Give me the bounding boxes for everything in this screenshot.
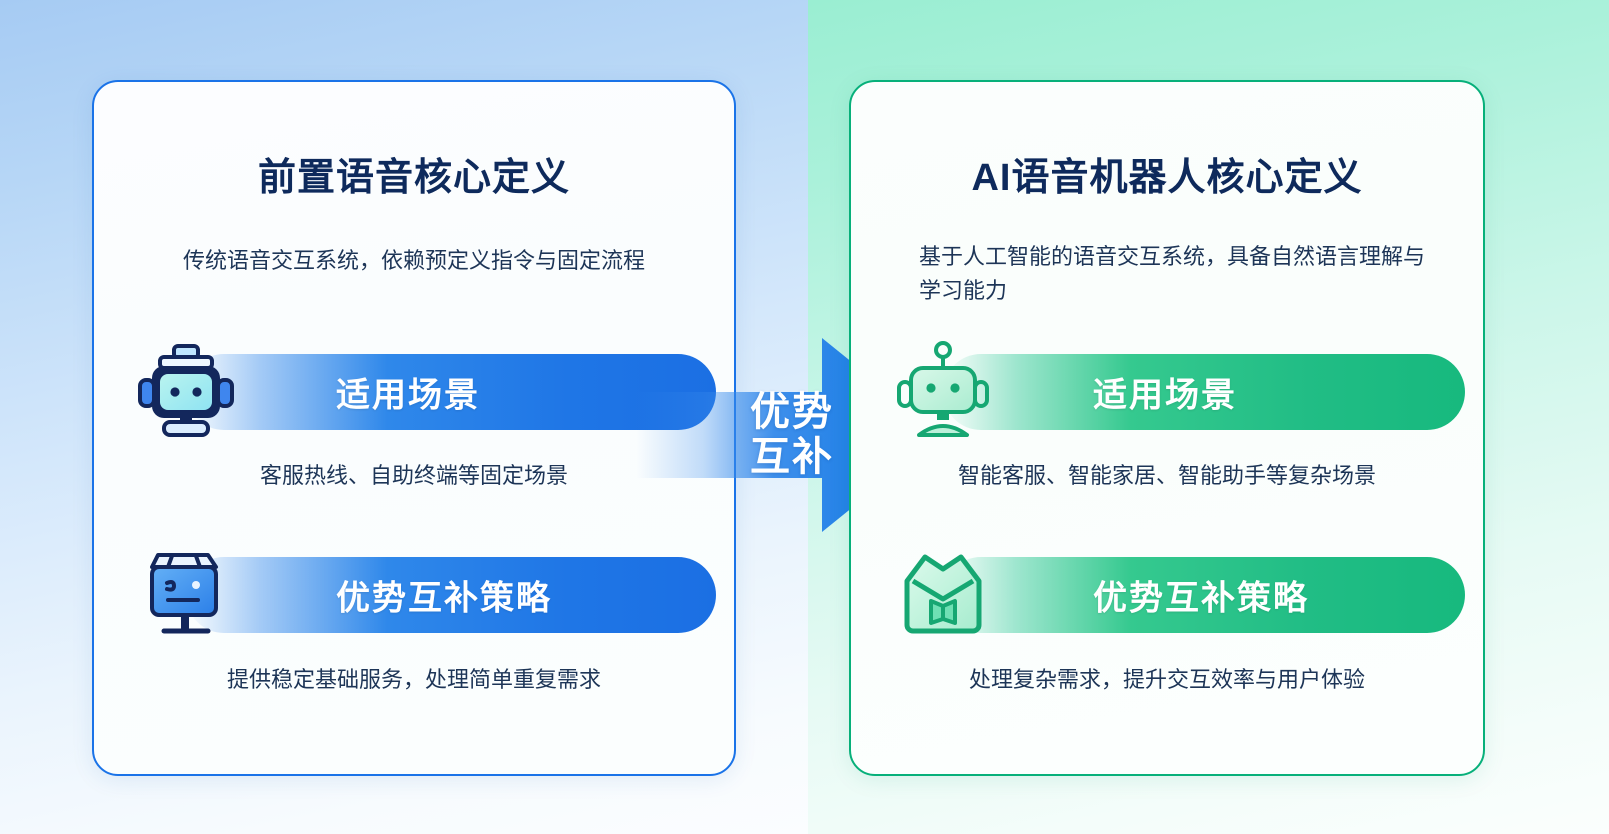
- left-card-title: 前置语音核心定义: [94, 146, 734, 201]
- right-pill-2[interactable]: 优势互补策略: [943, 557, 1465, 633]
- right-item-2-row: 优势互补策略: [851, 557, 1483, 639]
- diagram-canvas: 前置语音核心定义 传统语音交互系统，依赖预定义指令与固定流程 适用场景: [0, 0, 1609, 834]
- home-book-icon: [891, 543, 995, 647]
- right-item-2-caption: 处理复杂需求，提升交互效率与用户体验: [851, 662, 1483, 694]
- robot-antenna-icon: [891, 340, 995, 444]
- right-card-title: AI语音机器人核心定义: [851, 146, 1483, 201]
- left-item-2-caption: 提供稳定基础服务，处理简单重复需求: [94, 662, 734, 694]
- arrow-label-line-2: 互补: [744, 435, 840, 480]
- right-item-1-caption: 智能客服、智能家居、智能助手等复杂场景: [851, 458, 1483, 490]
- left-item-2-row: 优势互补策略: [94, 557, 734, 639]
- robot-head-icon: [134, 340, 238, 444]
- left-pill-2[interactable]: 优势互补策略: [186, 557, 716, 633]
- right-pill-1[interactable]: 适用场景: [943, 354, 1465, 430]
- left-pill-1-label: 适用场景: [336, 368, 480, 417]
- arrow-label: 优势 互补: [744, 390, 840, 480]
- right-card-description: 基于人工智能的语音交互系统，具备自然语言理解与学习能力: [919, 240, 1443, 308]
- right-card: AI语音机器人核心定义 基于人工智能的语音交互系统，具备自然语言理解与学习能力 …: [849, 80, 1485, 776]
- arrow-label-line-1: 优势: [744, 390, 840, 435]
- right-pill-2-label: 优势互补策略: [1093, 571, 1309, 620]
- terminal-face-icon: [134, 543, 238, 647]
- left-card-description: 传统语音交互系统，依赖预定义指令与固定流程: [138, 244, 690, 278]
- right-pill-1-label: 适用场景: [1093, 368, 1237, 417]
- right-item-1-row: 适用场景: [851, 354, 1483, 436]
- left-pill-2-label: 优势互补策略: [336, 571, 552, 620]
